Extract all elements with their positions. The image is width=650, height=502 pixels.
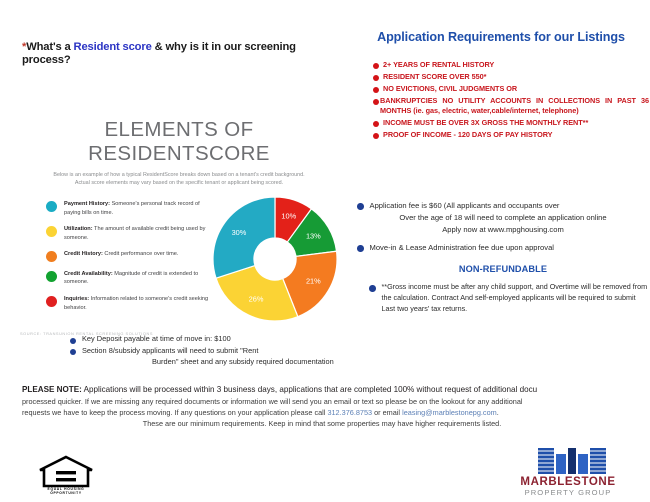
- please-note-block: PLEASE NOTE: Applications will be proces…: [22, 385, 650, 430]
- requirement-rental-history: 2+ YEARS OF RENTAL HISTORY: [373, 60, 649, 70]
- legend-dot-credit-availability: [46, 271, 57, 282]
- requirement-income-3x-text: INCOME MUST BE OVER 3X GROSS THE MONTHLY…: [383, 118, 588, 128]
- legend-dot-payment-history: [46, 201, 57, 212]
- red-bullet-icon: [373, 63, 379, 69]
- question-accent: Resident score: [74, 41, 152, 53]
- marblestone-property-group-logo: MARBLESTONE PROPERTY GROUP: [508, 448, 628, 498]
- residentscore-infographic: ELEMENTS OF RESIDENTSCORE Below is an ex…: [14, 100, 344, 340]
- donut-label-credit-availability: 13%: [306, 231, 321, 240]
- marblestone-subtitle: PROPERTY GROUP: [508, 488, 628, 497]
- blue-bullet-icon: [357, 203, 364, 210]
- legend-item-inquiries: Inquiries: Information related to someon…: [46, 295, 214, 313]
- please-note-line2: processed quicker. If we are missing any…: [22, 396, 622, 407]
- please-note-line4: These are our minimum requirements. Keep…: [22, 418, 622, 429]
- legend-label-payment-history: Payment History: Someone's personal trac…: [64, 200, 214, 218]
- info-application-fee-text: Application fee is $60 (All applicants a…: [370, 200, 560, 212]
- legend-item-credit-availability: Credit Availability: Magnitude of credit…: [46, 270, 214, 288]
- bullet-section8: Section 8/subsidy applicants will need t…: [70, 346, 360, 357]
- please-note-line1: PLEASE NOTE: Applications will be proces…: [22, 385, 650, 396]
- info-movein-fee: Move-in & Lease Administration fee due u…: [357, 242, 649, 254]
- bullet-section8-text: Section 8/subsidy applicants will need t…: [82, 346, 258, 357]
- legend-item-credit-history: Credit History: Credit performance over …: [46, 250, 214, 262]
- equal-housing-opportunity-logo: EQUAL HOUSING OPPORTUNITY: [36, 455, 96, 497]
- please-note-line3: requests we have to keep the process mov…: [22, 407, 622, 418]
- info-gross-income-note: **Gross income must be after any child s…: [357, 282, 649, 315]
- legend-label-credit-history: Credit History: Credit performance over …: [64, 250, 178, 259]
- info-application-fee: Application fee is $60 (All applicants a…: [357, 200, 649, 212]
- requirement-rental-history-text: 2+ YEARS OF RENTAL HISTORY: [383, 60, 494, 70]
- legend-item-utilization: Utilization: The amount of available cre…: [46, 225, 214, 243]
- bullet-key-deposit-text: Key Deposit payable at time of move in: …: [82, 334, 231, 345]
- legend-term-utilization: Utilization:: [64, 226, 93, 232]
- question-pre: What's a: [26, 41, 73, 53]
- legend-term-payment-history: Payment History:: [64, 201, 110, 207]
- left-column: *What's a Resident score & why is it in …: [0, 0, 352, 380]
- legend-label-utilization: Utilization: The amount of available cre…: [64, 225, 214, 243]
- donut-label-utilization: 26%: [249, 294, 264, 303]
- requirement-income-3x: INCOME MUST BE OVER 3X GROSS THE MONTHLY…: [373, 118, 649, 128]
- infographic-title: ELEMENTS OF RESIDENTSCORE: [14, 118, 344, 166]
- legend-item-payment-history: Payment History: Someone's personal trac…: [46, 200, 214, 218]
- requirement-resident-score: RESIDENT SCORE OVER 550*: [373, 72, 649, 82]
- legend-term-credit-availability: Credit Availability:: [64, 271, 113, 277]
- infographic-body: Payment History: Someone's personal trac…: [14, 198, 344, 338]
- please-note-line3-mid: or email: [372, 408, 402, 417]
- marblestone-building-icon: [508, 448, 628, 476]
- donut-label-payment-history: 30%: [232, 228, 247, 237]
- blue-info-list: Application fee is $60 (All applicants a…: [357, 200, 649, 315]
- red-bullet-icon: [373, 121, 379, 127]
- legend-label-inquiries: Inquiries: Information related to someon…: [64, 295, 214, 313]
- requirement-no-evictions-text: NO EVICTIONS, CIVIL JUDGMENTS OR: [383, 84, 517, 94]
- requirement-no-evictions: NO EVICTIONS, CIVIL JUDGMENTS OR: [373, 84, 649, 94]
- eho-caption-line2: OPPORTUNITY: [36, 491, 96, 495]
- infographic-subtitle-line2: Actual score elements may vary based on …: [34, 179, 324, 187]
- blue-bullet-icon: [357, 245, 364, 252]
- legend-term-credit-history: Credit History:: [64, 251, 103, 257]
- legend-dot-credit-history: [46, 251, 57, 262]
- infographic-subtitle-line1: Below is an example of how a typical Res…: [34, 171, 324, 179]
- equal-housing-icon: [36, 455, 96, 489]
- bullet-dot-icon: [70, 338, 76, 344]
- bullet-key-deposit: Key Deposit payable at time of move in: …: [70, 334, 360, 345]
- donut-label-credit-history: 21%: [306, 276, 321, 285]
- requirement-resident-score-text: RESIDENT SCORE OVER 550*: [383, 72, 486, 82]
- please-note-label: PLEASE NOTE:: [22, 385, 82, 394]
- chart-legend: Payment History: Someone's personal trac…: [46, 200, 214, 320]
- legend-dot-inquiries: [46, 296, 57, 307]
- please-note-line3-post: .: [497, 408, 499, 417]
- blue-bullet-icon: [369, 285, 376, 292]
- info-movein-fee-text: Move-in & Lease Administration fee due u…: [370, 242, 554, 254]
- donut-slice-payment-history: [213, 197, 275, 278]
- right-column: Application Requirements for our Listing…: [352, 0, 650, 380]
- red-bullet-icon: [373, 99, 379, 105]
- red-bullet-icon: [373, 75, 379, 81]
- flyer-page: *What's a Resident score & why is it in …: [0, 0, 650, 502]
- donut-label-inquiries: 10%: [281, 211, 296, 220]
- red-requirements-list: 2+ YEARS OF RENTAL HISTORY RESIDENT SCOR…: [373, 60, 649, 142]
- requirement-proof-of-income: PROOF OF INCOME - 120 DAYS OF PAY HISTOR…: [373, 130, 649, 140]
- resident-score-question: *What's a Resident score & why is it in …: [22, 41, 342, 67]
- non-refundable-label: NON-REFUNDABLE: [357, 264, 649, 274]
- bullet-dot-icon: [70, 349, 76, 355]
- application-requirements-title: Application Requirements for our Listing…: [352, 30, 650, 44]
- equal-housing-caption: EQUAL HOUSING OPPORTUNITY: [36, 487, 96, 496]
- red-bullet-icon: [373, 87, 379, 93]
- marblestone-name: MARBLESTONE: [508, 476, 628, 488]
- residentscore-donut-chart: 10%13%21%26%30%: [210, 194, 340, 324]
- left-bullet-list: Key Deposit payable at time of move in: …: [70, 334, 360, 368]
- info-application-fee-line2: Over the age of 18 will need to complete…: [357, 212, 649, 224]
- legend-term-inquiries: Inquiries:: [64, 296, 89, 302]
- legend-desc-credit-history: Credit performance over time.: [103, 251, 179, 257]
- bullet-section8-continuation: Burden" sheet and any subsidy required d…: [152, 357, 360, 368]
- requirement-proof-of-income-text: PROOF OF INCOME - 120 DAYS OF PAY HISTOR…: [383, 130, 552, 140]
- red-bullet-icon: [373, 133, 379, 139]
- legend-dot-utilization: [46, 226, 57, 237]
- please-note-line1-text: Applications will be processed within 3 …: [82, 385, 537, 394]
- info-gross-income-note-text: **Gross income must be after any child s…: [382, 282, 650, 315]
- infographic-subtitle: Below is an example of how a typical Res…: [34, 171, 324, 188]
- requirement-bankruptcies: BANKRUPTCIES NO UTILITY ACCOUNTS IN COLL…: [373, 96, 649, 116]
- contact-email-link[interactable]: leasing@marblestonepg.com: [402, 408, 497, 417]
- please-note-line3-pre: requests we have to keep the process mov…: [22, 408, 327, 417]
- donut-svg: 10%13%21%26%30%: [210, 194, 340, 324]
- legend-label-credit-availability: Credit Availability: Magnitude of credit…: [64, 270, 214, 288]
- requirement-bankruptcies-text: BANKRUPTCIES NO UTILITY ACCOUNTS IN COLL…: [380, 96, 649, 116]
- info-apply-now-url[interactable]: Apply now at www.mpghousing.com: [357, 224, 649, 236]
- contact-phone-link[interactable]: 312.376.8753: [327, 408, 372, 417]
